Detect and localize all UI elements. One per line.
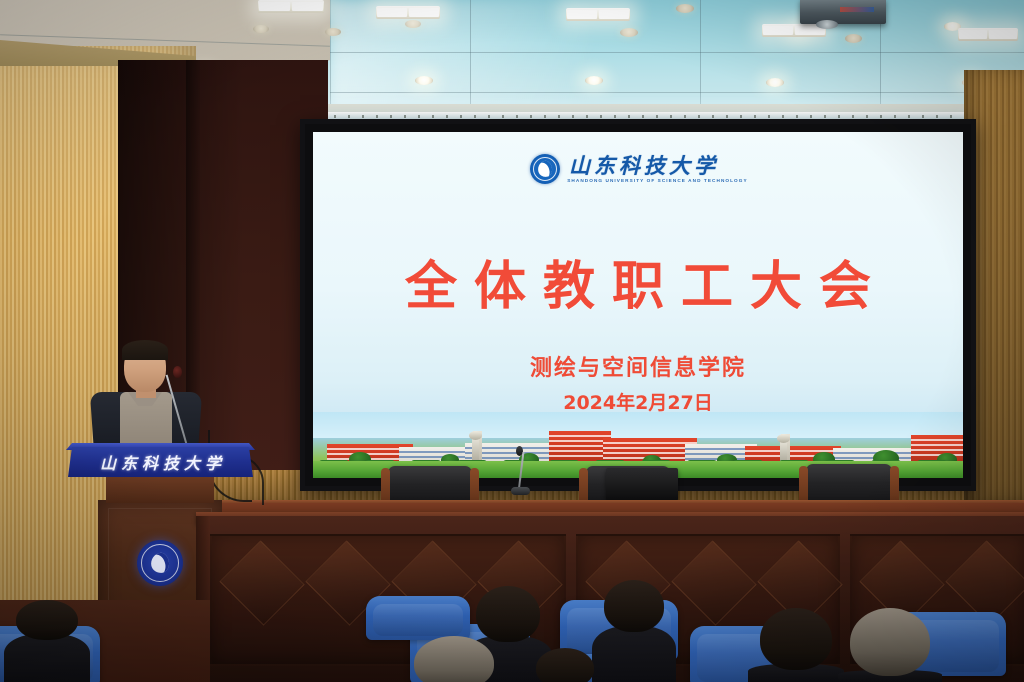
slide-title: 全体教职工大会 (313, 244, 963, 319)
campus-window-row (549, 450, 611, 452)
ceiling-troffer-icon (376, 6, 440, 19)
troffer-lamp (292, 2, 322, 11)
ceiling-downlight-icon (620, 28, 638, 37)
campus-window-row (911, 449, 963, 451)
campus-sky (313, 412, 963, 438)
campus-window-row (911, 444, 963, 446)
audience-member-head (476, 586, 540, 642)
presentation-slide: 山东科技大学 SHANDONG UNIVERSITY OF SCIENCE AN… (313, 132, 963, 478)
projector-label (840, 7, 874, 12)
troffer-lamp (989, 30, 1017, 39)
audience-member-head (760, 608, 832, 670)
campus-window-row (603, 447, 697, 449)
presenter-hair (122, 340, 168, 360)
campus-window-row (549, 440, 611, 442)
logo-chinese-name: 山东科技大学 (569, 155, 719, 177)
ceiling-troffer-icon (566, 8, 630, 21)
ceiling-seam (700, 0, 701, 118)
audience-member-head (536, 648, 594, 682)
auditorium-photo: 山东科技大学 SHANDONG UNIVERSITY OF SCIENCE AN… (0, 0, 1024, 682)
campus-window-row (911, 439, 963, 441)
ceiling-downlight-icon (415, 76, 433, 85)
troffer-lamp (599, 10, 628, 19)
lectern-neck (106, 477, 214, 503)
ceiling-downlight-icon (405, 20, 421, 28)
campus-window-row (603, 452, 697, 454)
slide-logo: 山东科技大学 SHANDONG UNIVERSITY OF SCIENCE AN… (313, 154, 963, 184)
campus-window-row (549, 435, 611, 437)
audience-member-shoulders (592, 626, 676, 682)
ceiling-downlight-icon (845, 34, 862, 43)
university-crest-icon (530, 154, 560, 184)
ceiling-downlight-icon (325, 28, 341, 36)
projection-screen: 山东科技大学 SHANDONG UNIVERSITY OF SCIENCE AN… (300, 119, 976, 491)
campus-window-row (549, 455, 611, 457)
laptop-icon (606, 468, 678, 501)
troffer-lamp (377, 8, 406, 17)
table-microphone-base (511, 487, 530, 495)
auditorium-seat (366, 596, 470, 640)
troffer-lamp (959, 30, 987, 39)
ceiling-downlight-icon (766, 78, 784, 87)
campus-window-row (603, 442, 697, 444)
audience-member-head (414, 636, 494, 682)
projector-lens-icon (816, 20, 838, 29)
audience-member-head (16, 600, 78, 640)
campus-window-row (399, 456, 473, 458)
logo-wordmark: 山东科技大学 SHANDONG UNIVERSITY OF SCIENCE AN… (569, 155, 746, 184)
troffer-lamp (567, 10, 596, 19)
ceiling-seam (330, 92, 1024, 93)
campus-building (399, 447, 473, 461)
troffer-lamp (409, 8, 438, 17)
slide-date: 2024年2月27日 (313, 388, 963, 415)
audience-member-head (850, 608, 930, 676)
ceiling-seam (470, 0, 471, 118)
slide-subtitle: 测绘与空间信息学院 (313, 350, 963, 382)
cove-perforation (306, 115, 982, 118)
podium-microphone-icon (173, 366, 182, 378)
ceiling-downlight-icon (676, 4, 694, 13)
audience-member-head (604, 580, 664, 632)
troffer-lamp (259, 2, 289, 11)
campus-window-row (399, 451, 473, 453)
lectern-banner-text: 山东科技大学 (68, 450, 253, 474)
ceiling-troffer-icon (958, 28, 1018, 41)
logo-english-name: SHANDONG UNIVERSITY OF SCIENCE AND TECHN… (567, 177, 747, 184)
ceiling-projector-icon (800, 0, 886, 24)
ceiling-downlight-icon (253, 25, 269, 33)
ceiling-seam (330, 52, 1024, 53)
ceiling-downlight-icon (585, 76, 603, 85)
troffer-lamp (763, 26, 792, 35)
ceiling-glow (330, 0, 590, 118)
ceiling-troffer-icon (258, 0, 324, 13)
ceiling-seam (330, 0, 331, 118)
university-crest-icon (137, 540, 183, 586)
campus-window-row (549, 445, 611, 447)
audience-member-shoulders (4, 634, 90, 682)
campus-building (549, 431, 611, 461)
